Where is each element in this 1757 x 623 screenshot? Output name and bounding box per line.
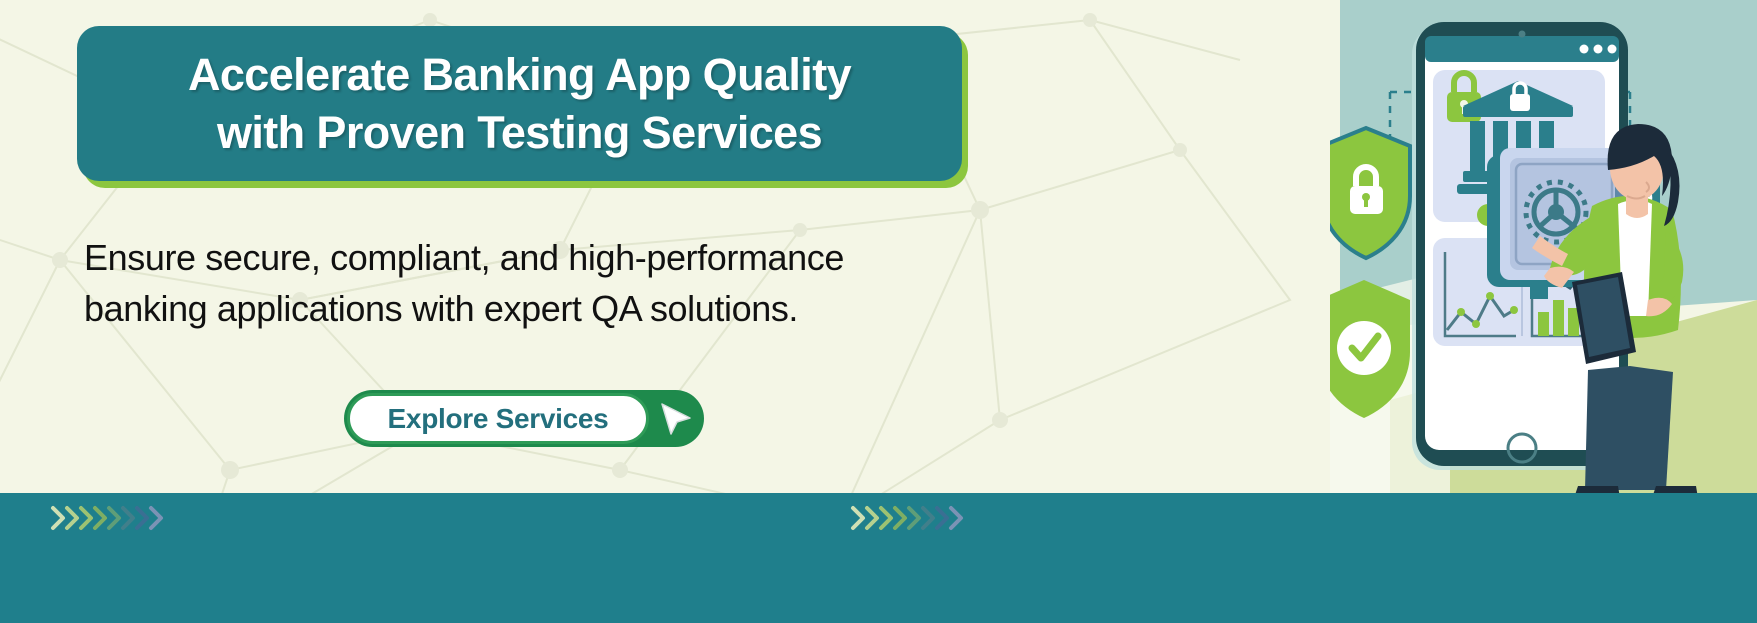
headline-line-1: Accelerate Banking App Quality bbox=[188, 46, 851, 104]
cursor-pointer-icon bbox=[656, 400, 696, 438]
subtitle-line-2: banking applications with expert QA solu… bbox=[84, 283, 984, 334]
banking-app-security-illustration bbox=[1330, 0, 1757, 494]
subtitle: Ensure secure, compliant, and high-perfo… bbox=[84, 232, 984, 334]
headline-plaque: Accelerate Banking App Quality with Prov… bbox=[77, 26, 962, 181]
subtitle-line-1: Ensure secure, compliant, and high-perfo… bbox=[84, 232, 984, 283]
chevron-group-left bbox=[50, 500, 170, 536]
headline-line-2: with Proven Testing Services bbox=[217, 104, 822, 162]
chevron-group-right bbox=[850, 500, 970, 536]
cta-label-container[interactable]: Explore Services bbox=[347, 393, 649, 444]
marketing-banner: Accelerate Banking App Quality with Prov… bbox=[0, 0, 1757, 623]
explore-services-button[interactable]: Explore Services bbox=[344, 390, 704, 447]
cta-label: Explore Services bbox=[388, 403, 609, 435]
